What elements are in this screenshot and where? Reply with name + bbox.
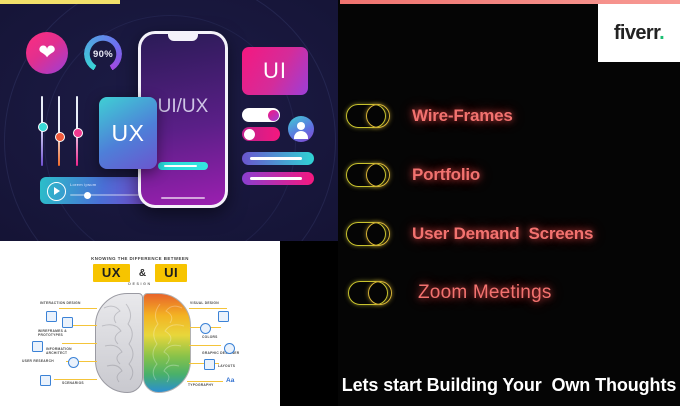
slider-track-2[interactable] xyxy=(58,96,60,166)
player-progress-track[interactable] xyxy=(70,194,144,196)
play-icon[interactable] xyxy=(47,182,66,201)
illustration-progress-bar-1 xyxy=(242,152,314,165)
phone-notch xyxy=(168,34,198,41)
toggle-knob-zoom-meetings[interactable] xyxy=(368,281,392,305)
toggle-switch-zoom-meetings[interactable] xyxy=(348,281,388,305)
visual-design-icon xyxy=(218,311,229,322)
ui-card-label: UI xyxy=(263,58,287,84)
scenarios-icon xyxy=(40,375,51,386)
brain-left-hemisphere xyxy=(95,293,143,393)
colors-icon xyxy=(200,323,211,334)
infographic-right-label-4: LAYOUTS xyxy=(218,364,252,368)
infographic-right-label-3: GRAPHIC DESIGNER xyxy=(202,351,242,355)
service-label-wireframes: Wire-Frames xyxy=(412,106,513,126)
slider-knob-2[interactable] xyxy=(55,132,65,142)
infographic-right-label-1: VISUAL DESIGN xyxy=(190,301,240,305)
infographic-left-label-1: INTERACTION DESIGN xyxy=(40,301,98,305)
heart-icon: ❤ xyxy=(26,32,68,74)
cta-text: Lets start Building Your Own Thoughts xyxy=(338,375,680,396)
heart-glyph: ❤ xyxy=(38,42,56,63)
toggle-knob-wireframes[interactable] xyxy=(366,104,390,128)
fiverr-logo: fiverr. xyxy=(598,4,680,62)
top-right-accent-strip xyxy=(340,0,680,4)
leader-line-left-3 xyxy=(62,343,97,344)
toggle-switch-portfolio[interactable] xyxy=(346,163,386,187)
services-panel: fiverr. Wire-Frames Portfolio User Deman xyxy=(338,0,680,406)
toggle-knob-user-demand-screens[interactable] xyxy=(366,222,390,246)
infographic-ux-badge: UX xyxy=(93,264,130,282)
illustration-toggle-knob-1[interactable] xyxy=(268,110,279,121)
service-list: Wire-Frames Portfolio User Demand Screen… xyxy=(338,86,680,322)
service-label-portfolio: Portfolio xyxy=(412,165,480,185)
brain-right-gyri-icon xyxy=(144,294,190,392)
service-row-portfolio[interactable]: Portfolio xyxy=(338,145,680,204)
service-label-user-demand-screens: User Demand Screens xyxy=(412,224,593,244)
progress-ring-label: 90% xyxy=(84,35,122,73)
graphic-designer-icon xyxy=(224,343,235,354)
phone-home-indicator xyxy=(161,197,205,199)
service-row-user-demand-screens[interactable]: User Demand Screens xyxy=(338,204,680,263)
illustration-toggle-on[interactable] xyxy=(242,108,280,122)
slider-knob-3[interactable] xyxy=(73,128,83,138)
user-avatar-icon xyxy=(288,116,314,142)
service-label-zoom-meetings: Zoom Meetings xyxy=(418,282,552,304)
illustration-toggle-knob-2[interactable] xyxy=(244,129,255,140)
infographic-right-label-2: COLORS xyxy=(202,335,242,339)
infographic-ui-badge: UI xyxy=(155,264,187,282)
infographic-left-label-2: WIREFRAMES & PROTOTYPES xyxy=(38,329,92,338)
brain-right-hemisphere xyxy=(143,293,191,393)
infographic-subtitle: DESIGN xyxy=(4,282,276,286)
player-caption: Lorem ipsum xyxy=(70,182,96,187)
brain-left-gyri-icon xyxy=(96,294,142,392)
illustration-progress-bar-2 xyxy=(242,172,314,185)
infographic-right-label-5: TYPOGRAPHY xyxy=(188,383,226,387)
infographic-word-row: UX & UI xyxy=(4,264,276,282)
user-research-icon xyxy=(68,357,79,368)
brain-infographic-panel: KNOWING THE DIFFERENCE BETWEEN UX & UI D… xyxy=(0,241,280,406)
player-progress-knob[interactable] xyxy=(84,192,91,199)
toggle-switch-wireframes[interactable] xyxy=(346,104,386,128)
leader-line-right-3 xyxy=(189,345,221,346)
toggle-knob-portfolio[interactable] xyxy=(366,163,390,187)
interaction-design-icon xyxy=(46,311,57,322)
top-left-accent-strip xyxy=(0,0,120,4)
toggle-switch-user-demand-screens[interactable] xyxy=(346,222,386,246)
uiux-illustration-panel: ❤ 90% Lorem ipsum UI/UX UX xyxy=(0,0,338,241)
leader-line-left-1 xyxy=(59,308,97,309)
phone-cta-pill[interactable] xyxy=(158,162,208,170)
ui-card: UI xyxy=(242,47,308,95)
infographic-ampersand: & xyxy=(139,268,146,279)
leader-line-right-1 xyxy=(189,308,227,309)
illustration-toggle-off[interactable] xyxy=(242,127,280,141)
ux-card: UX xyxy=(99,97,157,169)
slider-knob-1[interactable] xyxy=(38,122,48,132)
ux-card-label: UX xyxy=(112,120,145,147)
infographic-headline: KNOWING THE DIFFERENCE BETWEEN xyxy=(4,256,276,261)
leader-line-left-5 xyxy=(54,379,97,380)
fiverr-wordmark-text: fiverr xyxy=(614,22,659,44)
information-architect-icon xyxy=(32,341,43,352)
leader-line-right-5 xyxy=(187,381,223,382)
infographic-left-label-3: INFORMATION ARCHITECT xyxy=(46,347,94,356)
infographic-left-label-5: SCENARIOS xyxy=(62,381,100,385)
fiverr-dot: . xyxy=(659,22,664,44)
infographic-left-label-4: USER RESEARCH xyxy=(22,359,68,363)
media-player-widget[interactable]: Lorem ipsum xyxy=(40,177,153,204)
wireframes-icon xyxy=(62,317,73,328)
brain-infographic-canvas: KNOWING THE DIFFERENCE BETWEEN UX & UI D… xyxy=(4,245,276,406)
gig-thumbnail: ❤ 90% Lorem ipsum UI/UX UX xyxy=(0,0,680,406)
typography-icon: Aa xyxy=(226,377,234,384)
layouts-icon xyxy=(204,359,215,370)
fiverr-wordmark: fiverr. xyxy=(614,22,664,45)
service-row-wireframes[interactable]: Wire-Frames xyxy=(338,86,680,145)
service-row-zoom-meetings[interactable]: Zoom Meetings xyxy=(338,263,680,322)
